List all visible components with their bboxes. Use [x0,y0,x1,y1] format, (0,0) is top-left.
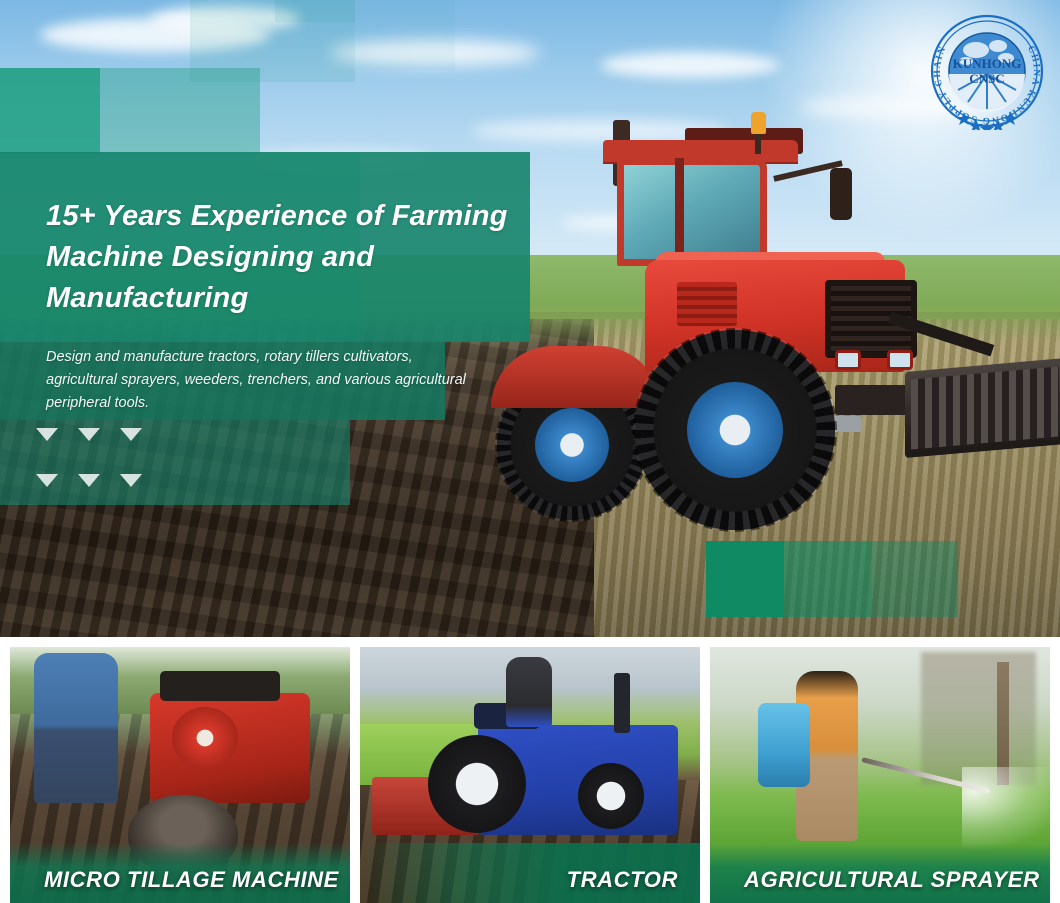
card-label-tractor: TRACTOR [360,867,700,893]
wheel-hub [535,408,609,482]
company-logo: KUNHONG CNSC CHINA KUNHONG SUPPLY CHAIN [928,12,1046,130]
exhaust-stack [614,673,630,733]
mosaic-block [0,68,100,154]
hero-section: 15+ Years Experience of Farming Machine … [0,0,1060,637]
headlamp [887,350,913,370]
mosaic-block [355,0,455,70]
triangle-down-icon [78,474,100,487]
tractor-front-wheel [635,330,835,530]
triangle-down-icon [120,428,142,441]
product-card-micro-tillage[interactable]: MICRO TILLAGE MACHINE [10,647,350,903]
driver-figure [506,657,552,727]
beacon-stem [755,132,761,154]
cab-window [617,158,767,266]
card-label-agricultural-sprayer: AGRICULTURAL SPRAYER [710,867,1050,893]
hero-subtitle: Design and manufacture tractors, rotary … [46,346,466,415]
backpack-sprayer-tank [758,703,810,787]
product-card-row: MICRO TILLAGE MACHINE TRACTOR [0,647,1060,903]
hood-vent [677,282,737,326]
tree-line [921,652,1037,785]
triangle-down-icon [36,428,58,441]
tractor-rear-wheel [428,735,526,833]
promo-banner: 15+ Years Experience of Farming Machine … [0,0,1060,903]
micro-tiller-body [150,693,310,803]
accent-block [706,541,784,617]
triangle-down-icon [120,474,142,487]
hero-tractor-image [505,120,1060,550]
cloud-icon [600,52,780,78]
amber-beacon-light [751,112,766,134]
triangle-decoration [36,428,152,498]
front-implement [905,358,1060,458]
tractor-front-wheel [578,763,644,829]
wheel-hub [687,382,783,478]
triangle-down-icon [78,428,100,441]
accent-block [872,541,958,617]
accent-block [784,541,872,617]
product-card-agricultural-sprayer[interactable]: AGRICULTURAL SPRAYER [710,647,1050,903]
engine-flywheel [172,707,238,769]
operator-figure [34,653,118,803]
tractor-fender [491,346,661,408]
logo-name-line1: KUNHONG [953,56,1022,71]
triangle-down-icon [36,474,58,487]
headlamp [835,350,861,370]
mosaic-block [275,0,355,22]
side-mirror [830,168,852,220]
tiller-fuel-tank [160,671,280,701]
page-title: 15+ Years Experience of Farming Machine … [46,196,546,320]
product-card-tractor[interactable]: TRACTOR [360,647,700,903]
logo-name-line2: CNSC [969,71,1004,86]
spray-mist [962,767,1050,849]
card-label-micro-tillage: MICRO TILLAGE MACHINE [10,867,350,893]
